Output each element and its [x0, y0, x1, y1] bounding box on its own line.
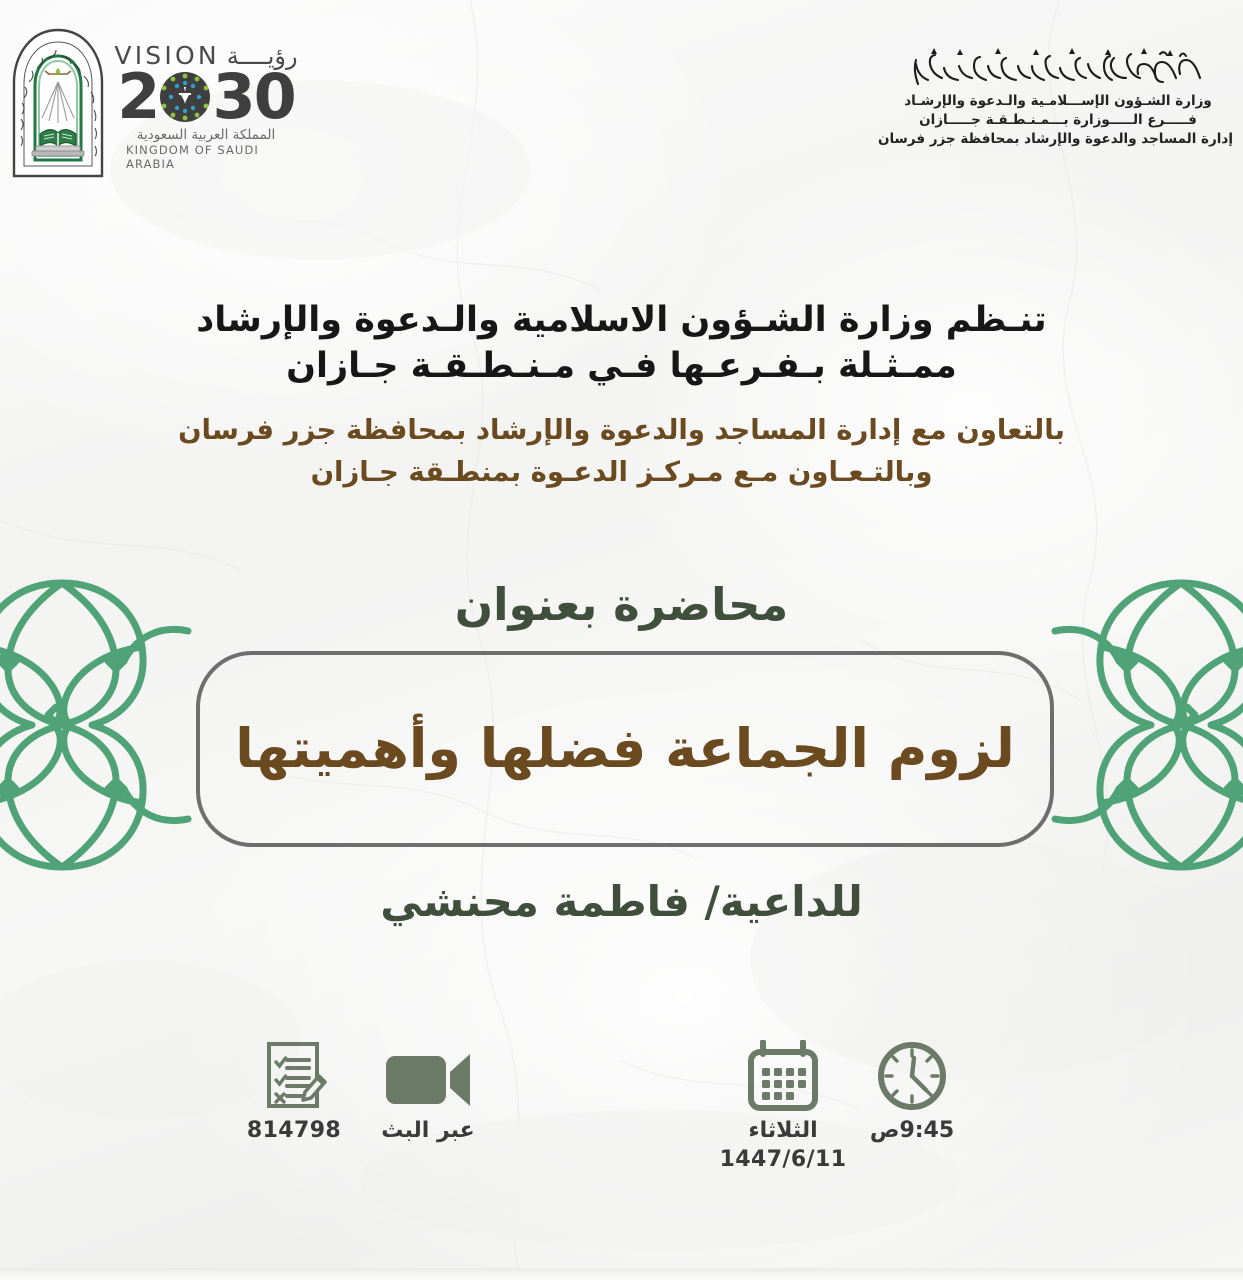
- ministry-line-2: فـــــرع الـــــوزارة بـــمـنـطـقـة جـــ…: [883, 111, 1233, 130]
- clock-icon-wrap: [876, 1040, 948, 1112]
- poster-canvas: VISION رؤيــــة 2: [0, 0, 1243, 1280]
- info-item-registration: 814798: [240, 1040, 348, 1145]
- info-item-broadcast: عبر البث: [362, 1040, 494, 1145]
- ministry-line-3: إدارة المساجد والدعوة والإرشاد بمحافظة ج…: [883, 130, 1233, 149]
- cooperation-line-2: وبالتـعـاون مـع مـركـز الدعـوة بمنطـقة ج…: [0, 452, 1243, 494]
- organizer-block: تنـظم وزارة الشـؤون الاسلامية والـدعوة و…: [0, 298, 1243, 389]
- form-checklist-icon-wrap: [261, 1040, 327, 1112]
- event-day: الثلاثاء: [748, 1118, 817, 1145]
- event-date: 1447/6/11: [720, 1147, 847, 1174]
- poster-header: VISION رؤيــــة 2: [0, 0, 1243, 190]
- logo-group: VISION رؤيــــة 2: [4, 26, 286, 186]
- ministry-mosque-emblem-icon: [4, 26, 112, 186]
- lecture-title: لزوم الجماعة فضلها وأهميتها: [235, 717, 1015, 782]
- calendar-icon-wrap: [747, 1040, 819, 1112]
- vision-digit-2: 2: [117, 68, 158, 127]
- form-checklist-icon: [261, 1040, 327, 1112]
- organizer-line-2: ممـثـلة بـفـرعـها فـي مـنـطـقـة جـازان: [0, 344, 1243, 390]
- cooperation-block: بالتعاون مع إدارة المساجد والدعوة والإرش…: [0, 410, 1243, 494]
- video-camera-icon-wrap: [384, 1040, 472, 1112]
- registration-number: 814798: [247, 1118, 341, 1145]
- cooperation-line-1: بالتعاون مع إدارة المساجد والدعوة والإرش…: [0, 410, 1243, 452]
- speaker-block: للداعية/ فاطمة محنشي: [0, 877, 1243, 926]
- organizer-line-1: تنـظم وزارة الشـؤون الاسلامية والـدعوة و…: [0, 298, 1243, 344]
- ministry-identity-block: وزارة الشـؤون الإســـلامـية والـدعوة وال…: [883, 44, 1233, 149]
- kingdom-calligraphy-icon: [908, 44, 1208, 90]
- bottom-strip: [0, 1268, 1243, 1280]
- vision-2030-logo: VISION رؤيــــة 2: [126, 41, 286, 172]
- calendar-icon: [747, 1040, 819, 1112]
- ministry-line-1: وزارة الشـؤون الإســـلامـية والـدعوة وال…: [883, 92, 1233, 111]
- vision-2030-dot-emblem-icon: [159, 71, 211, 123]
- lecture-kicker-label: محاضرة بعنوان: [455, 578, 789, 631]
- event-info-row: 814798 عبر البث: [0, 1040, 1243, 1180]
- video-camera-icon: [384, 1048, 472, 1112]
- vision-digit-30: 30: [212, 68, 294, 127]
- vision-number: 2: [117, 68, 294, 127]
- lecture-title-box: لزوم الجماعة فضلها وأهميتها: [196, 651, 1054, 847]
- info-item-time: 9:45ص: [848, 1040, 976, 1145]
- broadcast-label: عبر البث: [381, 1118, 474, 1145]
- lecture-kicker: محاضرة بعنوان: [0, 578, 1243, 631]
- vision-subtitle-ar: المملكة العربية السعودية: [137, 127, 276, 143]
- speaker-name: للداعية/ فاطمة محنشي: [380, 877, 863, 926]
- clock-icon: [876, 1040, 948, 1112]
- info-item-date: الثلاثاء 1447/6/11: [718, 1040, 848, 1174]
- event-time: 9:45ص: [870, 1118, 954, 1145]
- vision-subtitle-en: KINGDOM OF SAUDI ARABIA: [126, 143, 286, 171]
